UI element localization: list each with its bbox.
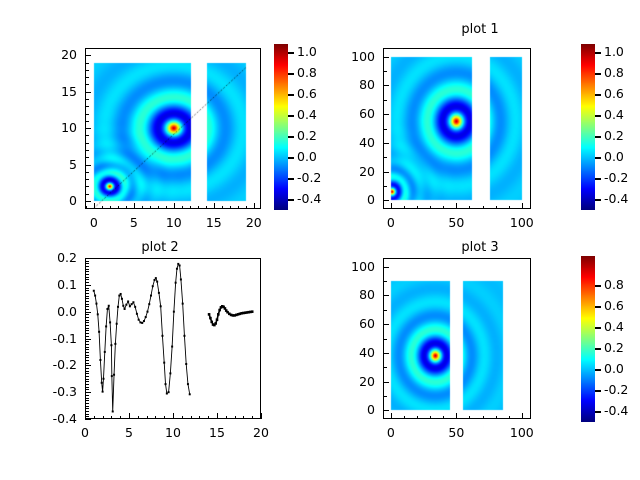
panel-top-right-colorbar-tick [595,52,601,54]
panel-top-left-colorbar-label: -0.4 [297,191,321,206]
panel-bottom-left-xtick-minor [226,416,227,420]
panel-top-left-colorbar-tick [288,178,294,180]
panel-bottom-left-xtick [261,413,262,419]
panel-bottom-right-xtick [522,413,523,419]
panel-top-left-ytick-label: 10 [29,120,77,135]
panel-top-left-xtick-minor [198,206,199,210]
panel-top-left-colorbar-tick [288,52,294,54]
panel-top-left-xtick-label: 10 [154,215,194,230]
panel-top-left-ytick-minor [85,48,89,49]
panel-top-left-ytick-label: 15 [29,84,77,99]
panel-top-right-colorbar-label: 0.8 [604,65,624,80]
panel-top-left-ytick-minor [85,150,89,151]
panel-top-left-xtick-label: 15 [194,215,234,230]
panel-top-left-colorbar-tick [288,115,294,117]
panel-bottom-left-ytick-minor [85,395,89,396]
panel-bottom-right-colorbar-tick [595,390,601,392]
panel-bottom-left-xtick [217,413,218,419]
panel-bottom-left-ytick [85,419,91,420]
panel-top-left-ytick-minor [85,135,89,136]
panel-bottom-left-ytick-minor [85,304,89,305]
panel-bottom-right-ytick-minor [383,339,387,340]
panel-bottom-left-ytick-minor [85,330,89,331]
panel-top-left-colorbar-tick [288,73,294,75]
panel-top-right-colorbar [581,44,595,210]
panel-bottom-left-ytick-minor [85,301,89,302]
panel-top-right-ytick-label: 20 [327,164,375,179]
panel-top-left-ytick-minor [85,70,89,71]
panel-top-right-colorbar-tick [595,199,601,201]
panel-bottom-left-xtick-minor [155,416,156,420]
panel-top-left-xtick-minor [158,206,159,210]
panel-bottom-left-ytick-minor [85,314,89,315]
panel-bottom-left-ytick-minor [85,277,89,278]
panel-bottom-right-ytick [383,267,389,268]
figure-canvas: plot 1 plot 2 plot 3 0510152005101520050… [0,0,640,480]
panel-bottom-left-ytick-minor [85,263,89,264]
panel-top-right-colorbar-tick [595,94,601,96]
panel-bottom-left-xtick-minor [120,416,121,420]
panel-bottom-left-ytick-minor [85,352,89,353]
panel-bottom-left-ytick-minor [85,360,89,361]
panel-top-right-colorbar-tick [595,73,601,75]
panel-bottom-left-ytick-minor [85,373,89,374]
panel-top-left-ytick [85,128,91,129]
panel-bottom-right-colorbar-tick [595,285,601,287]
panel-top-right-ytick [383,85,389,86]
panel-bottom-left-ytick-minor [85,271,89,272]
panel-bottom-right-colorbar-label: 0.4 [604,319,624,334]
panel-top-right-xtick-minor [430,206,431,210]
panel-bottom-right-colorbar-label: 0.2 [604,340,624,355]
panel-top-left-xtick-label: 5 [114,215,154,230]
panel-bottom-left-xtick-minor [199,416,200,420]
panel-bottom-right-ytick-minor [383,310,387,311]
panel-bottom-left-xtick-minor [182,416,183,420]
panel-bottom-left-xtick-minor [235,416,236,420]
panel-bottom-left-ytick-minor [85,368,89,369]
panel-top-right-xtick-label: 100 [502,215,542,230]
panel-top-right-ytick-minor [383,71,387,72]
panel-top-left-ytick-minor [85,172,89,173]
panel-top-left-xtick [254,203,255,209]
panel-bottom-left-xtick-label: 15 [197,425,237,440]
panel-top-left-xtick-label: 0 [74,215,114,230]
panel-bottom-right-xtick-label: 0 [371,425,411,440]
panel-bottom-left-ytick-minor [85,269,89,270]
panel-bottom-left-ytick-label: 0.1 [29,277,77,292]
panel-bottom-right-colorbar-tick [595,411,601,413]
panel-bottom-left-xtick-minor [103,416,104,420]
panel-bottom-left-ytick-label: -0.4 [29,411,77,426]
panel-bottom-left-xtick-minor [191,416,192,420]
panel-bottom-right-colorbar-tick [595,306,601,308]
panel-bottom-left-ytick-minor [85,398,89,399]
panel-bottom-left-ytick-label: 0.2 [29,250,77,265]
panel-top-left-ytick-minor [85,143,89,144]
panel-bottom-right-colorbar-label: -0.2 [604,382,628,397]
panel-top-left-ytick [85,92,91,93]
panel-bottom-left-ytick-minor [85,379,89,380]
panel-top-left-ytick-minor [85,114,89,115]
panel-top-left-xtick-minor [238,206,239,210]
panel-bottom-right-colorbar-tick [595,327,601,329]
panel-top-right-xtick-minor [469,206,470,210]
panel-bottom-left-ytick-minor [85,355,89,356]
panel-bottom-right-xtick-minor [496,416,497,420]
panel-top-left-colorbar-tick [288,157,294,159]
panel-top-right-xtick-minor [496,206,497,210]
panel-bottom-left-ytick-minor [85,408,89,409]
panel-top-left-xtick [174,203,175,209]
panel-bottom-left-ytick-minor [85,416,89,417]
panel-top-left-ytick-label: 20 [29,47,77,62]
panel-bottom-right-colorbar-tick [595,369,601,371]
panel-top-left-xtick-minor [230,206,231,210]
panel-bottom-left-ytick-minor [85,282,89,283]
panel-bottom-left-ytick-minor [85,406,89,407]
panel-bottom-left-xtick-minor [243,416,244,420]
panel-top-right-colorbar-label: -0.4 [604,191,628,206]
panel-top-left-ytick-minor [85,121,89,122]
panel-bottom-left-ytick-label: -0.2 [29,357,77,372]
panel-top-right-colorbar-tick [595,178,601,180]
panel-top-left-ytick-minor [85,208,89,209]
panel-top-left-colorbar-tick [288,199,294,201]
panel-bottom-left-ytick-minor [85,344,89,345]
panel-top-left-xtick [214,203,215,209]
panel-bottom-right-colorbar-label: 0.6 [604,298,624,313]
panel-bottom-right-ytick-label: 0 [327,402,375,417]
panel-bottom-right-ytick-minor [383,396,387,397]
panel-top-right-ytick-label: 40 [327,135,375,150]
panel-bottom-right-ytick [383,295,389,296]
panel-bottom-right-xtick [391,413,392,419]
panel-top-left-ytick [85,55,91,56]
panel-bottom-left-ytick-minor [85,317,89,318]
panel-bottom-left-ytick-minor [85,279,89,280]
panel-bottom-left-ytick-minor [85,384,89,385]
panel-top-left-ytick-minor [85,77,89,78]
panel-top-left-image [85,48,261,209]
panel-bottom-left-ytick-minor [85,288,89,289]
panel-bottom-left-ytick-minor [85,296,89,297]
panel-top-left-xtick-label: 20 [234,215,274,230]
panel-bottom-right-xtick-minor [509,416,510,420]
panel-bottom-left-xtick-minor [164,416,165,420]
panel-bottom-left-ytick-minor [85,266,89,267]
panel-top-left-xtick-minor [206,206,207,210]
panel-top-left-colorbar-label: -0.2 [297,170,321,185]
panel-bottom-left-ytick-minor [85,325,89,326]
panel-bottom-left-ytick-minor [85,274,89,275]
panel-top-left-ytick [85,165,91,166]
panel-top-right-ytick-minor [383,100,387,101]
panel-top-left-colorbar-tick [288,94,294,96]
panel-bottom-left-ytick-minor [85,290,89,291]
panel-top-right-colorbar-label: 1.0 [604,44,624,59]
panel-bottom-left-xtick-minor [252,416,253,420]
panel-top-right-ytick-label: 80 [327,77,375,92]
panel-top-right-ytick-label: 60 [327,106,375,121]
panel-top-left-colorbar-label: 1.0 [297,44,317,59]
panel-top-left-xtick-minor [166,206,167,210]
panel-bottom-left-ytick-minor [85,333,89,334]
panel-bottom-right-ytick-label: 60 [327,316,375,331]
panel-bottom-right-xtick-minor [443,416,444,420]
panel-top-right-xtick [522,203,523,209]
panel-top-left-colorbar-label: 0.0 [297,149,317,164]
panel-bottom-right-xtick-minor [469,416,470,420]
panel-bottom-left-xtick-minor [147,416,148,420]
panel-top-right-colorbar-label: 0.0 [604,149,624,164]
panel-top-left-xtick [94,203,95,209]
panel-bottom-left-ytick-minor [85,328,89,329]
panel-bottom-left-ytick-minor [85,381,89,382]
panel-top-right-ytick [383,57,389,58]
panel-bottom-left-xtick-minor [208,416,209,420]
panel-top-left-xtick-minor [246,206,247,210]
panel-top-right-ytick-minor [383,186,387,187]
panel-top-right-ytick [383,143,389,144]
panel-top-left-colorbar-tick [288,136,294,138]
panel-bottom-right-ytick-label: 40 [327,345,375,360]
panel-bottom-right-colorbar-tick [595,348,601,350]
panel-bottom-left-xtick-label: 20 [241,425,281,440]
panel-bottom-left-ytick-minor [85,376,89,377]
panel-top-right-colorbar-label: 0.2 [604,128,624,143]
panel-bottom-right-ytick-label: 80 [327,287,375,302]
panel-bottom-left-ytick-minor [85,347,89,348]
panel-bottom-left-ytick-label: -0.1 [29,331,77,346]
panel-top-left-xtick-minor [118,206,119,210]
panel-bottom-right-ytick [383,324,389,325]
panel-bottom-left-xtick-minor [111,416,112,420]
panel-top-right-colorbar-label: 0.6 [604,86,624,101]
panel-top-right-colorbar-tick [595,115,601,117]
panel-bottom-left-xtick [129,413,130,419]
panel-bottom-right-xtick-label: 100 [502,425,542,440]
panel-top-left-ytick-minor [85,186,89,187]
panel-top-left-xtick-minor [190,206,191,210]
panel-bottom-left-ytick-minor [85,309,89,310]
panel-bottom-right-xtick-minor [417,416,418,420]
panel-top-right-xtick-minor [417,206,418,210]
panel-bottom-left-ytick-minor [85,349,89,350]
panel-bottom-left-ytick-minor [85,322,89,323]
panel-top-left-colorbar-label: 0.2 [297,128,317,143]
panel-bottom-left-ytick-minor [85,320,89,321]
panel-bottom-left-xtick-label: 5 [109,425,149,440]
panel-top-right-xtick-minor [483,206,484,210]
panel-bottom-left-ytick-minor [85,306,89,307]
panel-top-left-ytick-minor [85,99,89,100]
panel-top-right-xtick-label: 50 [436,215,476,230]
panel-top-left-xtick-minor [142,206,143,210]
panel-top-right-ytick [383,114,389,115]
panel-top-left-colorbar-label: 0.4 [297,107,317,122]
panel-bottom-left-ytick-minor [85,357,89,358]
panel-bottom-right-ytick-minor [383,281,387,282]
panel-top-right-colorbar-tick [595,136,601,138]
panel-top-right-xtick-label: 0 [371,215,411,230]
panel-bottom-left-ytick-minor [85,371,89,372]
panel-top-left-xtick-minor [182,206,183,210]
panel-bottom-left-ytick-minor [85,363,89,364]
panel-top-left-xtick [134,203,135,209]
panel-top-right-xtick [456,203,457,209]
panel-bottom-left-ytick-minor [85,293,89,294]
panel-bottom-left-xtick-label: 10 [153,425,193,440]
panel-top-left-xtick-minor [126,206,127,210]
panel-bottom-right-xtick-minor [404,416,405,420]
panel-top-left-ytick [85,201,91,202]
panel-top-right-xtick-minor [443,206,444,210]
panel-bottom-left-ytick [85,258,91,259]
panel-bottom-right-xtick-minor [430,416,431,420]
panel-top-left-xtick-minor [222,206,223,210]
panel-top-right-ytick [383,200,389,201]
panel-top-left-ytick-label: 5 [29,157,77,172]
panel-bottom-right-colorbar-label: 0.0 [604,361,624,376]
panel-top-left-colorbar-label: 0.8 [297,65,317,80]
panel-top-left-ytick-label: 0 [29,193,77,208]
panel-bottom-right-xtick-minor [483,416,484,420]
panel-top-left-colorbar [274,44,288,210]
panel-bottom-right-xtick [456,413,457,419]
panel-bottom-left-axes-frame [85,258,261,419]
panel-bottom-left-xtick [173,413,174,419]
panel-top-right-colorbar-tick [595,157,601,159]
panel-bottom-right-ytick [383,382,389,383]
panel-bottom-left-xtick-minor [94,416,95,420]
panel-bottom-left-ytick-minor [85,403,89,404]
panel-bottom-left-ytick-minor [85,341,89,342]
panel-bottom-left-ytick-minor [85,387,89,388]
panel-bottom-left-ytick-minor [85,411,89,412]
panel-bottom-left-xtick-minor [138,416,139,420]
panel-top-right-ytick [383,172,389,173]
panel-top-left-ytick-minor [85,84,89,85]
panel-bottom-right-xtick-label: 50 [436,425,476,440]
panel-bottom-right-colorbar [581,256,595,422]
plot-content-layer: 0510152005101520050100020406080100051015… [0,0,640,480]
panel-bottom-left-ytick-minor [85,389,89,390]
panel-top-right-xtick [391,203,392,209]
panel-top-left-ytick-minor [85,194,89,195]
panel-bottom-left-ytick-label: -0.3 [29,384,77,399]
panel-top-right-colorbar-label: -0.2 [604,170,628,185]
panel-bottom-right-ytick [383,353,389,354]
panel-bottom-left-ytick [85,285,91,286]
panel-top-left-xtick-minor [150,206,151,210]
panel-bottom-left-ytick-minor [85,261,89,262]
panel-bottom-left-ytick-minor [85,336,89,337]
panel-bottom-left-ytick-minor [85,298,89,299]
panel-top-left-colorbar-label: 0.6 [297,86,317,101]
panel-top-left-ytick-minor [85,157,89,158]
panel-top-left-ytick-minor [85,179,89,180]
panel-top-right-ytick-label: 100 [327,49,375,64]
panel-bottom-left-ytick-minor [85,414,89,415]
panel-bottom-left-ytick-label: 0.0 [29,304,77,319]
panel-bottom-left-ytick [85,339,91,340]
panel-bottom-left-ytick-minor [85,400,89,401]
panel-top-right-xtick-minor [404,206,405,210]
panel-bottom-right-ytick-minor [383,367,387,368]
panel-bottom-left-ytick [85,392,91,393]
panel-bottom-left-ytick [85,312,91,313]
panel-bottom-right-ytick-label: 20 [327,374,375,389]
panel-bottom-right-colorbar-label: 0.8 [604,277,624,292]
panel-bottom-right-ytick-label: 100 [327,259,375,274]
panel-bottom-right-image [383,258,531,419]
panel-top-right-image [383,48,531,209]
panel-top-right-colorbar-label: 0.4 [604,107,624,122]
panel-top-right-ytick-minor [383,129,387,130]
panel-top-left-xtick-minor [102,206,103,210]
panel-top-left-ytick-minor [85,63,89,64]
panel-top-left-xtick-minor [110,206,111,210]
panel-bottom-right-ytick [383,410,389,411]
panel-bottom-left-ytick [85,365,91,366]
panel-top-right-xtick-minor [509,206,510,210]
panel-top-right-ytick-minor [383,157,387,158]
panel-top-left-ytick-minor [85,106,89,107]
panel-bottom-left-xtick-label: 0 [65,425,105,440]
panel-top-right-ytick-label: 0 [327,192,375,207]
panel-bottom-right-colorbar-label: -0.4 [604,403,628,418]
